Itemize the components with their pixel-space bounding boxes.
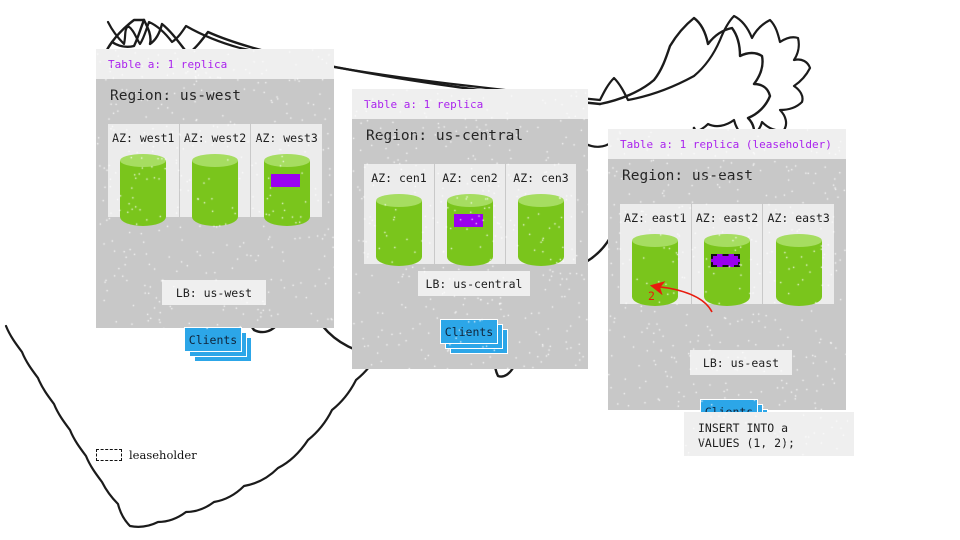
cylinder-body [120, 161, 166, 227]
sql-line-2: VALUES (1, 2); [698, 436, 854, 451]
sql-line-1: INSERT INTO a [698, 421, 854, 436]
load-balancer-us-west[interactable]: LB: us-west [162, 280, 266, 305]
database-node-cylinder [120, 154, 166, 217]
table-replica-label: Table a: 1 replica (leaseholder) [620, 138, 832, 151]
az-label: AZ: west3 [256, 131, 318, 145]
az-label: AZ: east2 [696, 211, 758, 225]
cylinder-body [376, 201, 422, 267]
az-label: AZ: west1 [112, 131, 174, 145]
arrow-step-label: 2 [648, 289, 655, 303]
database-node-cylinder [376, 194, 422, 264]
region-title-us-east: Region: us-east [608, 159, 846, 184]
cylinder-top [447, 194, 493, 207]
cylinder-body [192, 161, 238, 227]
sql-statement-box: INSERT INTO aVALUES (1, 2); [684, 412, 854, 456]
legend-label: leaseholder [129, 448, 197, 462]
diagram-canvas: Table a: 1 replicaRegion: us-westAZ: wes… [0, 0, 960, 540]
az-row-us-central: AZ: cen1AZ: cen2AZ: cen3 [364, 164, 576, 264]
az-cell-east3: AZ: east3 [762, 204, 834, 304]
az-label: AZ: cen3 [513, 171, 568, 185]
region-title-us-central: Region: us-central [352, 119, 588, 144]
replica-block [271, 174, 300, 187]
cylinder-top [704, 234, 750, 247]
legend: leaseholder [96, 448, 197, 462]
table-replica-header-us-west: Table a: 1 replica [96, 49, 334, 79]
cylinder-top [376, 194, 422, 207]
cylinder-body [704, 241, 750, 307]
az-row-us-west: AZ: west1AZ: west2AZ: west3 [108, 124, 322, 217]
az-cell-cen1: AZ: cen1 [364, 164, 434, 264]
load-balancer-us-central[interactable]: LB: us-central [418, 271, 530, 296]
cylinder-body [518, 201, 564, 267]
replica-block-leaseholder [711, 254, 740, 267]
database-node-cylinder [518, 194, 564, 264]
load-balancer-us-east[interactable]: LB: us-east [690, 350, 792, 375]
clients-top-card[interactable]: Clients [440, 319, 498, 344]
az-cell-west3: AZ: west3 [250, 124, 322, 217]
leaseholder-dashed-rectangle-icon [96, 449, 122, 461]
az-label: AZ: east1 [624, 211, 686, 225]
az-cell-west2: AZ: west2 [179, 124, 251, 217]
az-label: AZ: cen2 [442, 171, 497, 185]
cylinder-top [518, 194, 564, 207]
az-cell-cen3: AZ: cen3 [505, 164, 576, 264]
az-label: AZ: west2 [184, 131, 246, 145]
load-balancer-label: LB: us-east [703, 356, 779, 370]
database-node-cylinder [776, 234, 822, 304]
database-node-cylinder [447, 194, 493, 264]
table-replica-header-us-central: Table a: 1 replica [352, 89, 588, 119]
clients-button-us-west[interactable]: Clients [184, 327, 254, 364]
az-label: AZ: cen1 [371, 171, 426, 185]
clients-label: Clients [189, 333, 237, 347]
database-node-cylinder [192, 154, 238, 217]
clients-label: Clients [445, 325, 493, 339]
clients-top-card[interactable]: Clients [184, 327, 242, 352]
cylinder-body [632, 241, 678, 307]
az-label: AZ: east3 [768, 211, 830, 225]
cylinder-top [264, 154, 310, 167]
az-cell-west1: AZ: west1 [108, 124, 179, 217]
cylinder-top [632, 234, 678, 247]
cylinder-body [776, 241, 822, 307]
clients-button-us-central[interactable]: Clients [440, 319, 510, 356]
database-node-cylinder [632, 234, 678, 304]
database-node-cylinder [704, 234, 750, 304]
table-replica-label: Table a: 1 replica [108, 58, 227, 71]
az-cell-cen2: AZ: cen2 [434, 164, 505, 264]
replica-block [454, 214, 483, 227]
cylinder-top [776, 234, 822, 247]
table-replica-label: Table a: 1 replica [364, 98, 483, 111]
cylinder-top [120, 154, 166, 167]
load-balancer-label: LB: us-central [426, 277, 523, 291]
cylinder-top [192, 154, 238, 167]
cylinder-body [264, 161, 310, 227]
database-node-cylinder [264, 154, 310, 217]
region-title-us-west: Region: us-west [96, 79, 334, 104]
az-cell-east1: AZ: east1 [620, 204, 691, 304]
az-cell-east2: AZ: east2 [691, 204, 763, 304]
cylinder-body [447, 201, 493, 267]
table-replica-header-us-east: Table a: 1 replica (leaseholder) [608, 129, 846, 159]
load-balancer-label: LB: us-west [176, 286, 252, 300]
